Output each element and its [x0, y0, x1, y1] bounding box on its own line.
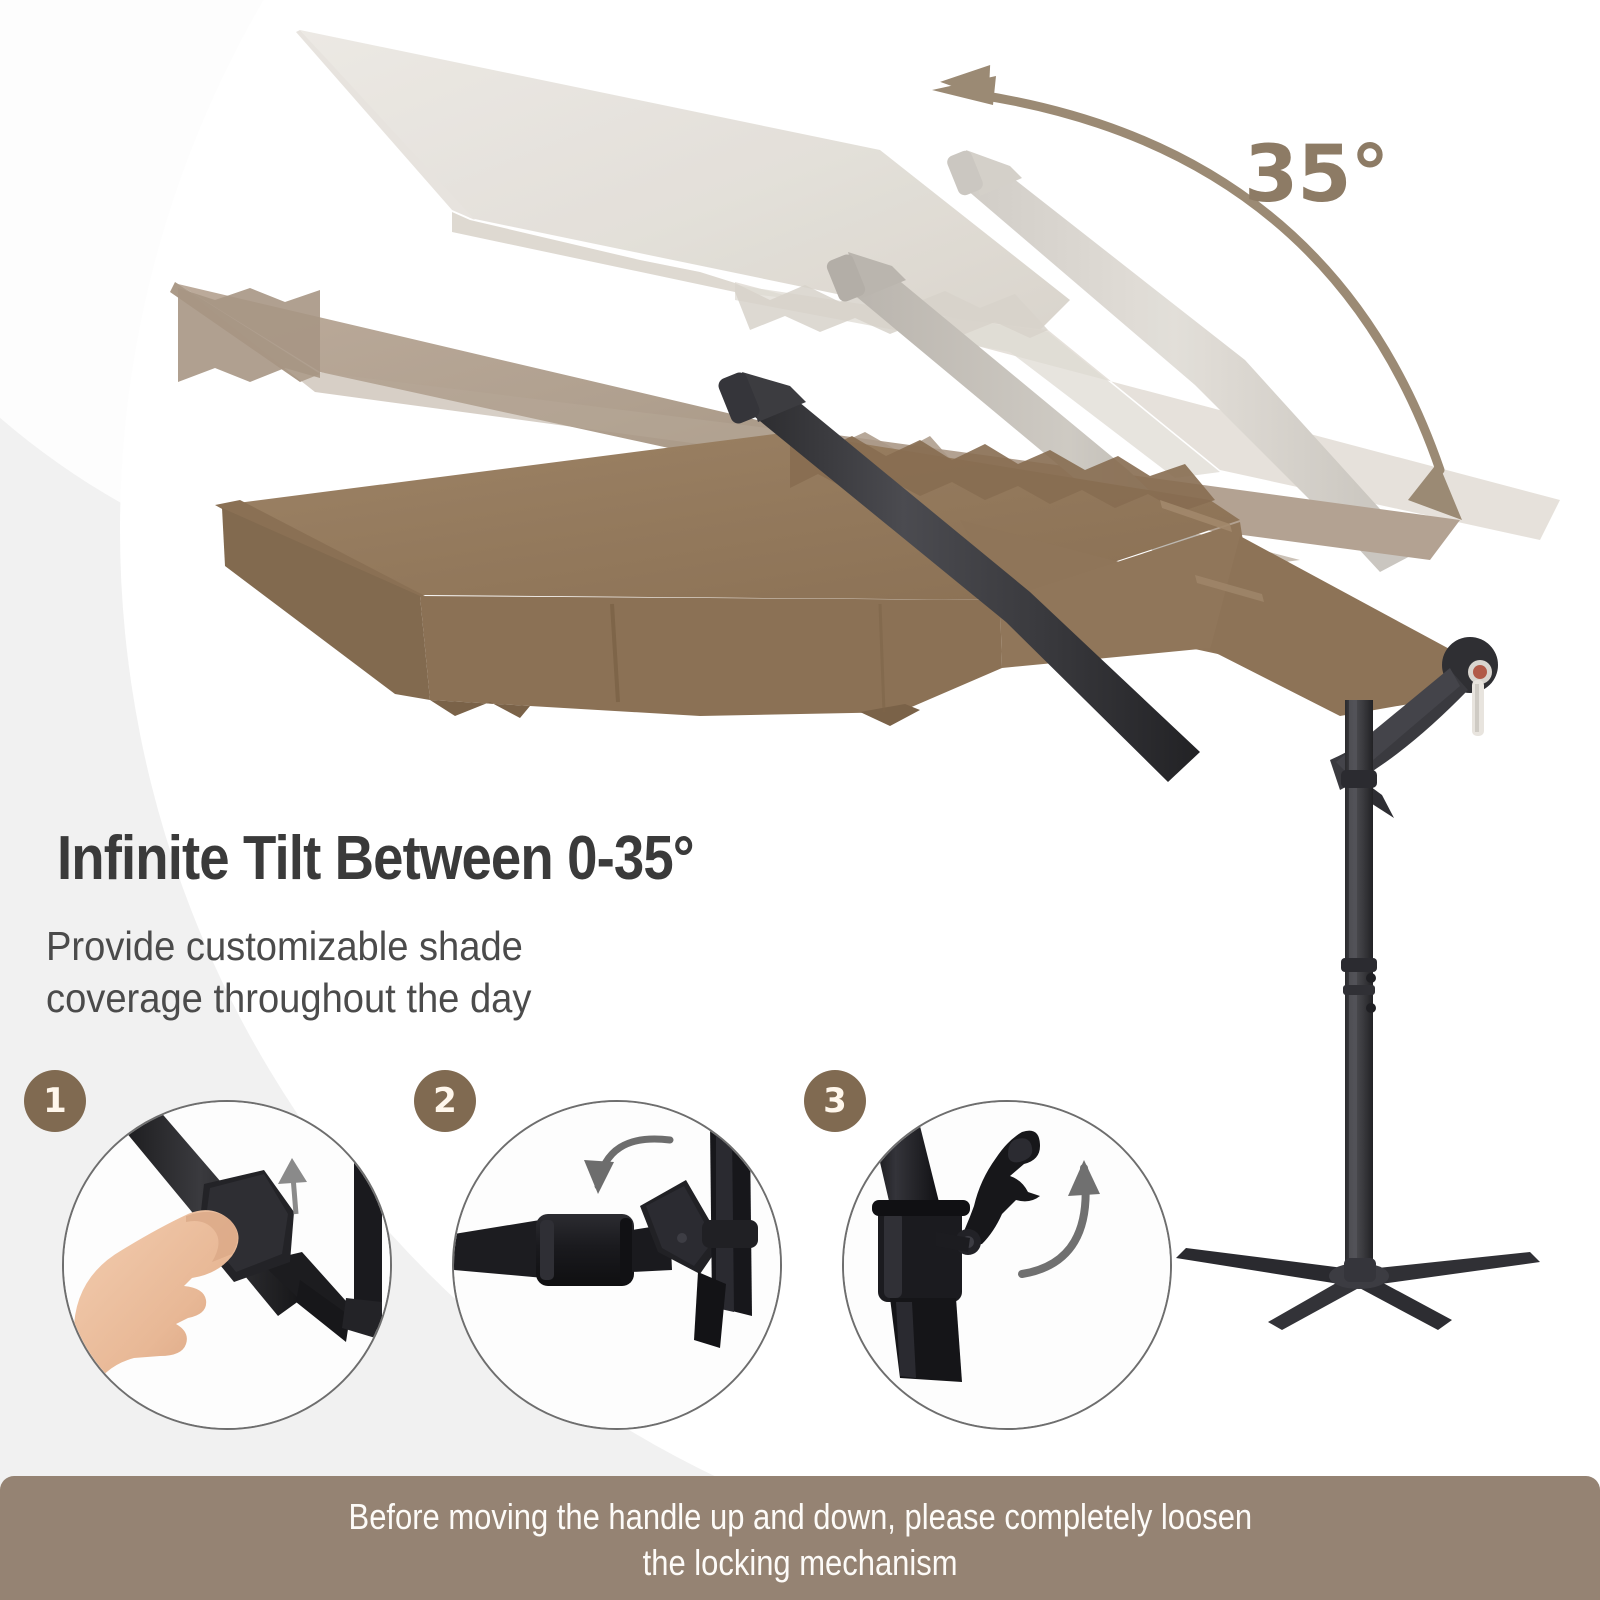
step-1-badge: 1: [24, 1070, 86, 1132]
step-3-photo: [842, 1100, 1172, 1430]
step-2-photo: [452, 1100, 782, 1430]
step-3-badge: 3: [804, 1070, 866, 1132]
step-2-badge: 2: [414, 1070, 476, 1132]
step-grip-sleeve: 1: [24, 1070, 384, 1430]
subheadline-line-1: Provide customizable shade: [46, 920, 531, 972]
tilt-angle-label: 35°: [1244, 130, 1389, 220]
page-headline: Infinite Tilt Between 0-35°: [57, 828, 694, 890]
step-rotate-joint: 2: [414, 1070, 774, 1430]
step-lock-lever: 3: [804, 1070, 1164, 1430]
subheadline-line-2: coverage throughout the day: [46, 972, 531, 1024]
cross-base: [1176, 1248, 1540, 1330]
page-subheadline: Provide customizable shade coverage thro…: [46, 920, 531, 1025]
step-1-photo: [62, 1100, 392, 1430]
